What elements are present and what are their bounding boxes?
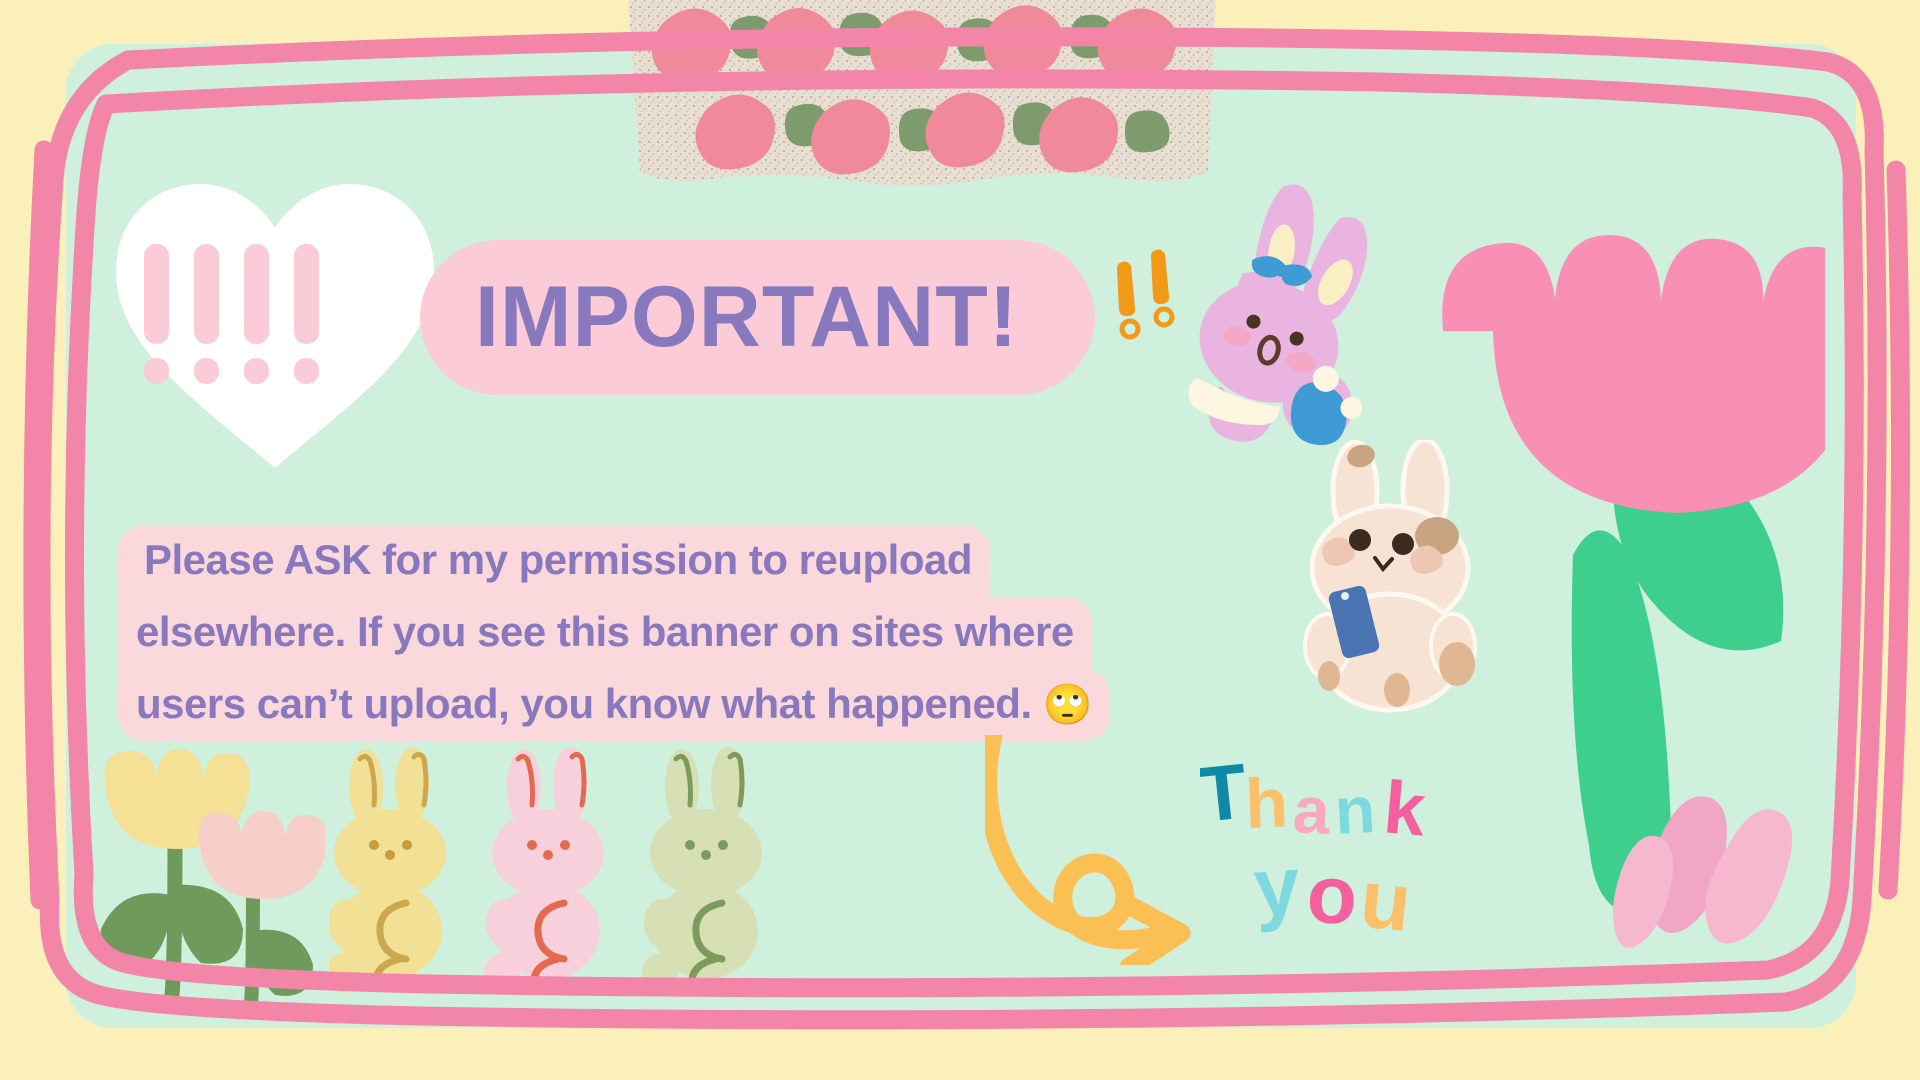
yellow-bunny-cookie — [330, 747, 446, 993]
title-pill: IMPORTANT! — [420, 240, 1095, 395]
thankyou-letter-a: a — [1291, 772, 1333, 848]
banner-canvas: IMPORTANT! Please ASK for my permission … — [0, 0, 1920, 1080]
pink-flying-bunny — [1145, 165, 1410, 455]
body-line-1: Please ASK for my permission to reupload — [118, 525, 990, 597]
thankyou-letter-h: h — [1244, 764, 1289, 843]
thankyou-letter-u: u — [1356, 853, 1415, 949]
thankyou-letter-k: k — [1381, 765, 1430, 851]
small-tulips — [75, 745, 325, 1005]
thankyou-letter-T: T — [1200, 750, 1251, 839]
thankyou-letter-o: o — [1305, 849, 1358, 942]
green-bunny-cookie — [642, 747, 762, 993]
floral-washi-tape — [620, 0, 1230, 210]
thank-you-lettering: T h a n k y o u — [1200, 750, 1500, 950]
body-line-2: elsewhere. If you see this banner on sit… — [118, 597, 1092, 669]
bunny-cookies — [330, 745, 810, 995]
rolling-eyes-emoji: 🙄 — [1043, 683, 1092, 727]
page-title: IMPORTANT! — [475, 268, 1018, 367]
thankyou-letter-y: y — [1251, 840, 1303, 934]
pink-bunny-cookie — [484, 747, 604, 993]
body-text-block: Please ASK for my permission to reupload… — [118, 525, 1173, 741]
white-heart-with-exclamations — [100, 168, 450, 468]
body-line-3: users can’t upload, you know what happen… — [118, 669, 1110, 741]
thankyou-letter-n: n — [1333, 772, 1377, 848]
body-line-3-text: users can’t upload, you know what happen… — [136, 680, 1043, 727]
